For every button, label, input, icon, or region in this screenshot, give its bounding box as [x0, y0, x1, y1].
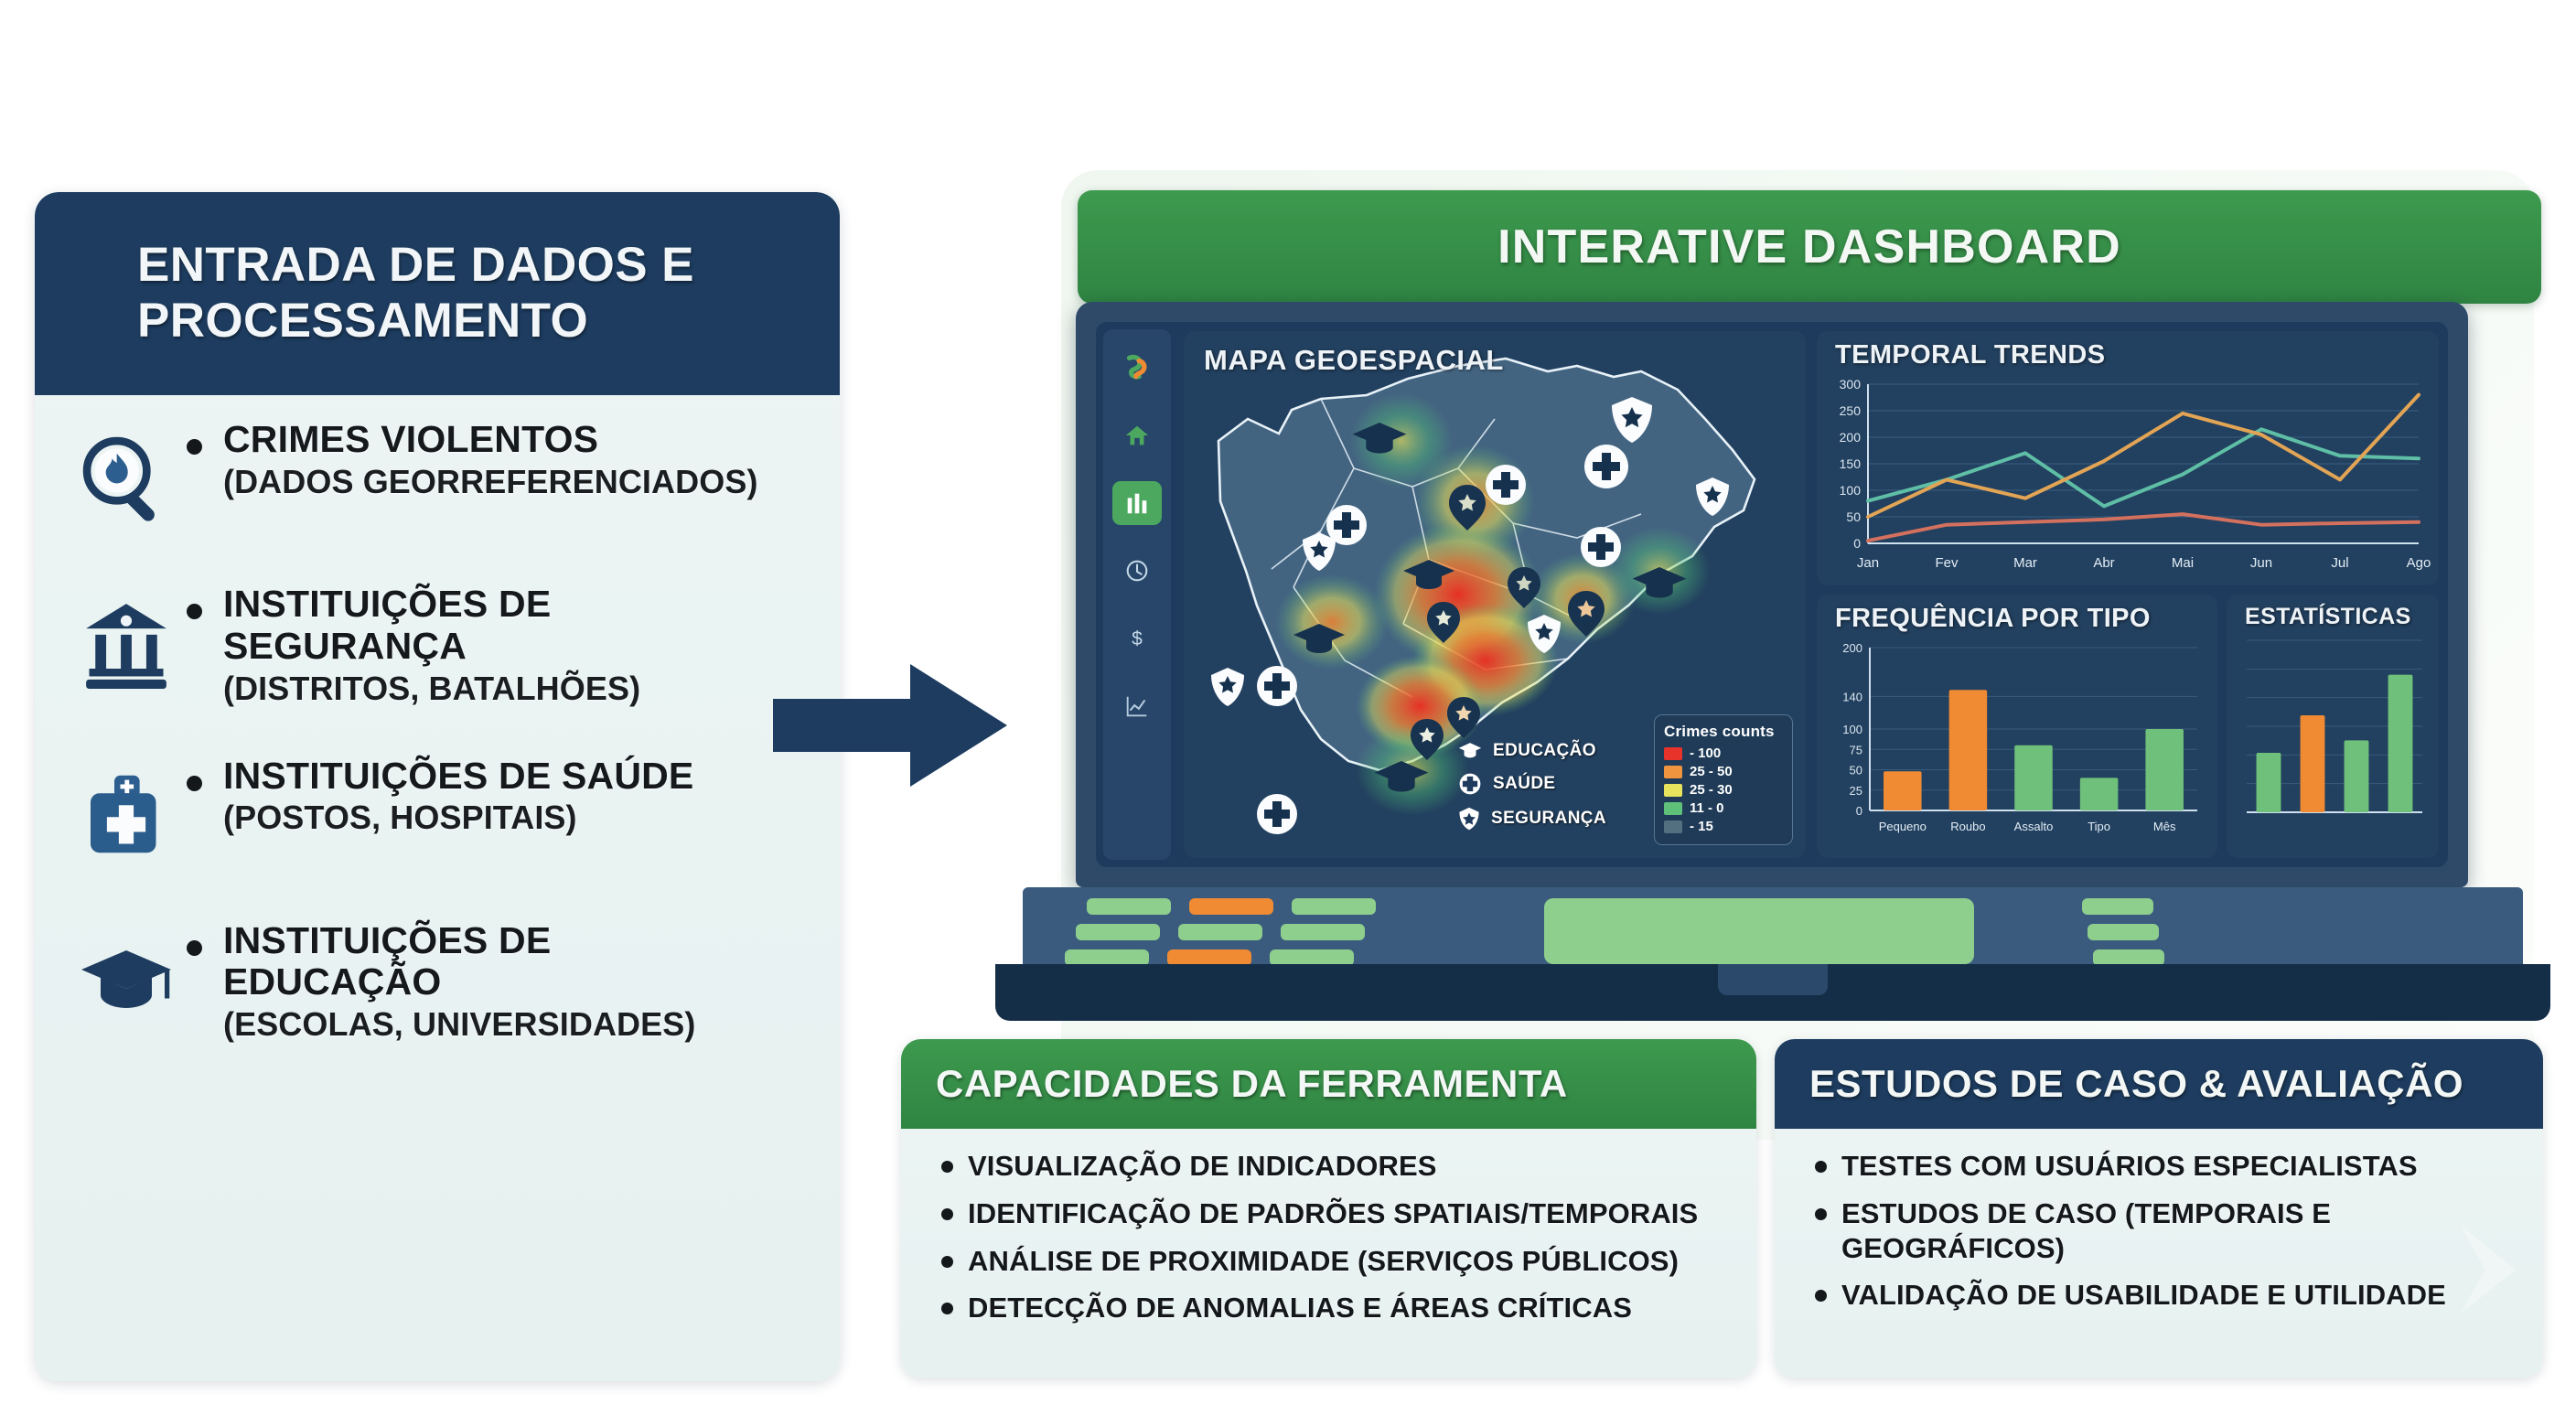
map-panel-title: MAPA GEOESPACIAL [1204, 344, 1504, 377]
keyboard-key[interactable] [1087, 898, 1171, 915]
infographic-canvas: ENTRADA DE DADOS E PROCESSAMENTO CRIMES [0, 0, 2576, 1405]
capability-text: IDENTIFICAÇÃO DE PADRÕES SPATIAIS/TEMPOR… [968, 1196, 1698, 1231]
capabilities-box-header: CAPACIDADES DA FERRAMENTA [901, 1039, 1756, 1129]
svg-text:Jul: Jul [2331, 555, 2348, 571]
list-item-subtitle: (POSTOS, HOSPITAIS) [223, 799, 816, 837]
case-studies-box-header: ESTUDOS DE CASO & AVALIAÇÃO [1775, 1039, 2543, 1129]
temporal-trends-title: TEMPORAL TRENDS [1835, 340, 2105, 370]
corner-chevron-icon [2428, 1215, 2538, 1325]
list-item-subtitle: (ESCOLAS, UNIVERSIDADES) [223, 1005, 816, 1044]
list-item-title: CRIMES VIOLENTOS [223, 419, 816, 461]
svg-text:Ago: Ago [2407, 555, 2431, 571]
case-studies-box: ESTUDOS DE CASO & AVALIAÇÃO TESTES COM U… [1775, 1039, 2543, 1378]
data-input-panel-title: ENTRADA DE DADOS E PROCESSAMENTO [35, 238, 694, 349]
svg-text:200: 200 [1842, 641, 1862, 655]
dashboard-title: INTERATIVE DASHBOARD [1497, 220, 2121, 274]
keyboard-key[interactable] [1076, 924, 1160, 940]
list-item-title-line2: EDUCAÇÃO [223, 961, 816, 1003]
laptop-trackpad[interactable] [1544, 898, 1974, 964]
bullet-marker [187, 920, 223, 956]
list-item-title: INSTITUIÇÕES DE SAÚDE [223, 756, 816, 798]
legend-row-educacao: EDUCAÇÃO [1458, 741, 1606, 761]
list-item-title-line1: INSTITUIÇÕES DE [223, 920, 816, 962]
case-study-text: ESTUDOS DE CASO (TEMPORAIS E GEOGRÁFICOS… [1841, 1196, 2519, 1266]
svg-text:$: $ [1132, 628, 1143, 649]
crimes-count-legend: Crimes counts - 100 25 - 50 25 - 30 11 -… [1654, 714, 1793, 845]
list-item-title-line1: INSTITUIÇÕES DE [223, 584, 816, 626]
statistics-panel[interactable]: ESTATÍSTICAS [2227, 595, 2439, 858]
statistics-bar-chart [2227, 595, 2439, 858]
medical-cross-icon [1458, 772, 1482, 796]
crimes-legend-row: 25 - 50 [1664, 764, 1783, 779]
geospatial-map-panel[interactable]: MAPA GEOESPACIAL EDUCAÇÃO SAÚDE SEGU [1184, 331, 1806, 858]
svg-text:250: 250 [1840, 403, 1862, 418]
crimes-legend-row: 11 - 0 [1664, 800, 1783, 816]
list-item: TESTES COM USUÁRIOS ESPECIALISTAS [1815, 1149, 2519, 1184]
list-item-subtitle: (DISTRITOS, BATALHÕES) [223, 670, 816, 708]
keyboard-key[interactable] [2088, 924, 2159, 940]
list-item: IDENTIFICAÇÃO DE PADRÕES SPATIAIS/TEMPOR… [941, 1196, 1733, 1231]
legend-swatch [1664, 802, 1682, 815]
svg-text:100: 100 [1840, 483, 1862, 498]
bullet-marker [187, 584, 223, 619]
panel-title-line1: ENTRADA DE DADOS E [137, 238, 694, 294]
frequency-bar-chart: 0255075100140200PequenoRouboAssaltoTipoM… [1817, 595, 2217, 858]
dashboard-header: INTERATIVE DASHBOARD [1078, 190, 2541, 304]
list-item-title-line2: SEGURANÇA [223, 626, 816, 668]
capability-text: VISUALIZAÇÃO DE INDICADORES [968, 1149, 1437, 1184]
svg-text:0: 0 [1856, 804, 1862, 818]
svg-text:Fev: Fev [1935, 555, 1959, 571]
svg-text:50: 50 [1846, 509, 1861, 524]
list-item: INSTITUIÇÕES DE SAÚDE (POSTOS, HOSPITAIS… [35, 756, 840, 873]
map-marker-legend: EDUCAÇÃO SAÚDE SEGURANÇA [1458, 741, 1606, 842]
legend-swatch [1664, 784, 1682, 797]
svg-text:150: 150 [1840, 456, 1862, 471]
bullet-marker [187, 419, 223, 455]
svg-text:0: 0 [1853, 536, 1861, 551]
legend-swatch [1664, 766, 1682, 778]
legend-swatch [1664, 820, 1682, 833]
home-icon[interactable] [1112, 413, 1162, 457]
graduation-cap-icon [66, 920, 187, 1034]
dashboard-sidebar: $ [1103, 329, 1171, 860]
legend-range: - 15 [1690, 819, 1713, 834]
capability-text: ANÁLISE DE PROXIMIDADE (SERVIÇOS PÚBLICO… [968, 1244, 1679, 1279]
case-studies-title: ESTUDOS DE CASO & AVALIAÇÃO [1809, 1062, 2463, 1106]
legend-range: 25 - 30 [1690, 782, 1733, 798]
bar-chart-icon[interactable] [1112, 481, 1162, 525]
svg-text:200: 200 [1840, 430, 1862, 445]
capability-text: DETECÇÃO DE ANOMALIAS E ÁREAS CRÍTICAS [968, 1291, 1632, 1325]
laptop-lid: $ [1076, 302, 2468, 887]
medical-kit-icon [66, 756, 187, 862]
bank-building-icon [66, 584, 187, 693]
data-source-list: CRIMES VIOLENTOS (DADOS GEORREFERENCIADO… [35, 419, 840, 1091]
right-arrow-icon [773, 657, 1011, 794]
svg-text:Jun: Jun [2250, 555, 2272, 571]
keyboard-key[interactable] [1292, 898, 1376, 915]
laptop-hinge-notch [1718, 964, 1828, 995]
list-item-subtitle: (DADOS GEORREFERENCIADOS) [223, 463, 816, 501]
svg-text:Mai: Mai [2172, 555, 2194, 571]
capabilities-list: VISUALIZAÇÃO DE INDICADORES IDENTIFICAÇÃ… [901, 1129, 1756, 1325]
svg-text:Abr: Abr [2093, 555, 2114, 571]
police-shield-icon [1458, 807, 1480, 831]
list-item: INSTITUIÇÕES DE EDUCAÇÃO (ESCOLAS, UNIVE… [35, 920, 840, 1045]
case-study-text: TESTES COM USUÁRIOS ESPECIALISTAS [1841, 1149, 2418, 1184]
legend-range: - 100 [1690, 745, 1721, 761]
crimes-legend-title: Crimes counts [1664, 723, 1783, 741]
crimes-legend-row: - 15 [1664, 819, 1783, 834]
legend-label: SAÚDE [1493, 774, 1556, 794]
dashboard-screen: $ [1096, 322, 2448, 867]
capabilities-box: CAPACIDADES DA FERRAMENTA VISUALIZAÇÃO D… [901, 1039, 1756, 1378]
legend-range: 25 - 50 [1690, 764, 1733, 779]
graduation-cap-icon [1458, 741, 1482, 761]
magnifier-flame-icon [66, 419, 187, 531]
list-item: INSTITUIÇÕES DE SEGURANÇA (DISTRITOS, BA… [35, 584, 840, 708]
svg-text:100: 100 [1842, 723, 1862, 736]
case-study-text: VALIDAÇÃO DE USABILIDADE E UTILIDADE [1841, 1278, 2446, 1313]
svg-text:Mar: Mar [2013, 555, 2037, 571]
crimes-legend-row: 25 - 30 [1664, 782, 1783, 798]
data-input-panel: ENTRADA DE DADOS E PROCESSAMENTO CRIMES [35, 192, 840, 1381]
legend-swatch [1664, 747, 1682, 760]
keyboard-key[interactable] [1178, 924, 1262, 940]
svg-text:Mês: Mês [2153, 820, 2176, 833]
legend-row-saude: SAÚDE [1458, 772, 1606, 796]
svg-text:Pequeno: Pequeno [1879, 820, 1927, 833]
keyboard-key[interactable] [1281, 924, 1365, 940]
crimes-legend-row: - 100 [1664, 745, 1783, 761]
frequency-by-type-panel[interactable]: FREQUÊNCIA POR TIPO 0255075100140200Pequ… [1817, 595, 2217, 858]
capabilities-title: CAPACIDADES DA FERRAMENTA [936, 1062, 1568, 1106]
legend-row-seguranca: SEGURANÇA [1458, 807, 1606, 831]
list-item: DETECÇÃO DE ANOMALIAS E ÁREAS CRÍTICAS [941, 1291, 1733, 1325]
legend-label: EDUCAÇÃO [1493, 741, 1596, 761]
legend-range: 11 - 0 [1690, 800, 1724, 816]
list-item: ANÁLISE DE PROXIMIDADE (SERVIÇOS PÚBLICO… [941, 1244, 1733, 1279]
line-chart-icon[interactable] [1112, 684, 1162, 728]
temporal-trends-panel[interactable]: TEMPORAL TRENDS 050100150200250300JanFev… [1817, 331, 2439, 585]
svg-text:Assalto: Assalto [2014, 820, 2054, 833]
frequency-title: FREQUÊNCIA POR TIPO [1835, 604, 2151, 634]
app-logo-icon[interactable] [1112, 346, 1162, 390]
svg-text:75: 75 [1850, 743, 1862, 756]
list-item: CRIMES VIOLENTOS (DADOS GEORREFERENCIADO… [35, 419, 840, 536]
svg-text:25: 25 [1850, 784, 1862, 798]
dollar-icon[interactable]: $ [1112, 617, 1162, 660]
list-item: VALIDAÇÃO DE USABILIDADE E UTILIDADE [1815, 1278, 2519, 1313]
svg-text:Tipo: Tipo [2088, 820, 2110, 833]
svg-text:Roubo: Roubo [1950, 820, 1985, 833]
list-item: ESTUDOS DE CASO (TEMPORAIS E GEOGRÁFICOS… [1815, 1196, 2519, 1266]
legend-label: SEGURANÇA [1491, 809, 1606, 829]
svg-text:140: 140 [1842, 690, 1862, 703]
keyboard-key[interactable] [2082, 898, 2153, 915]
clock-icon[interactable] [1112, 549, 1162, 593]
svg-text:50: 50 [1850, 764, 1862, 778]
list-item: VISUALIZAÇÃO DE INDICADORES [941, 1149, 1733, 1184]
panel-title-line2: PROCESSAMENTO [137, 294, 694, 349]
bullet-marker [187, 756, 223, 791]
laptop-mockup: $ [995, 302, 2550, 1024]
svg-text:Jan: Jan [1857, 555, 1879, 571]
keyboard-key-accent[interactable] [1189, 898, 1273, 915]
statistics-title: ESTATÍSTICAS [2245, 604, 2411, 630]
svg-text:300: 300 [1840, 377, 1862, 391]
data-input-panel-header: ENTRADA DE DADOS E PROCESSAMENTO [35, 192, 840, 395]
